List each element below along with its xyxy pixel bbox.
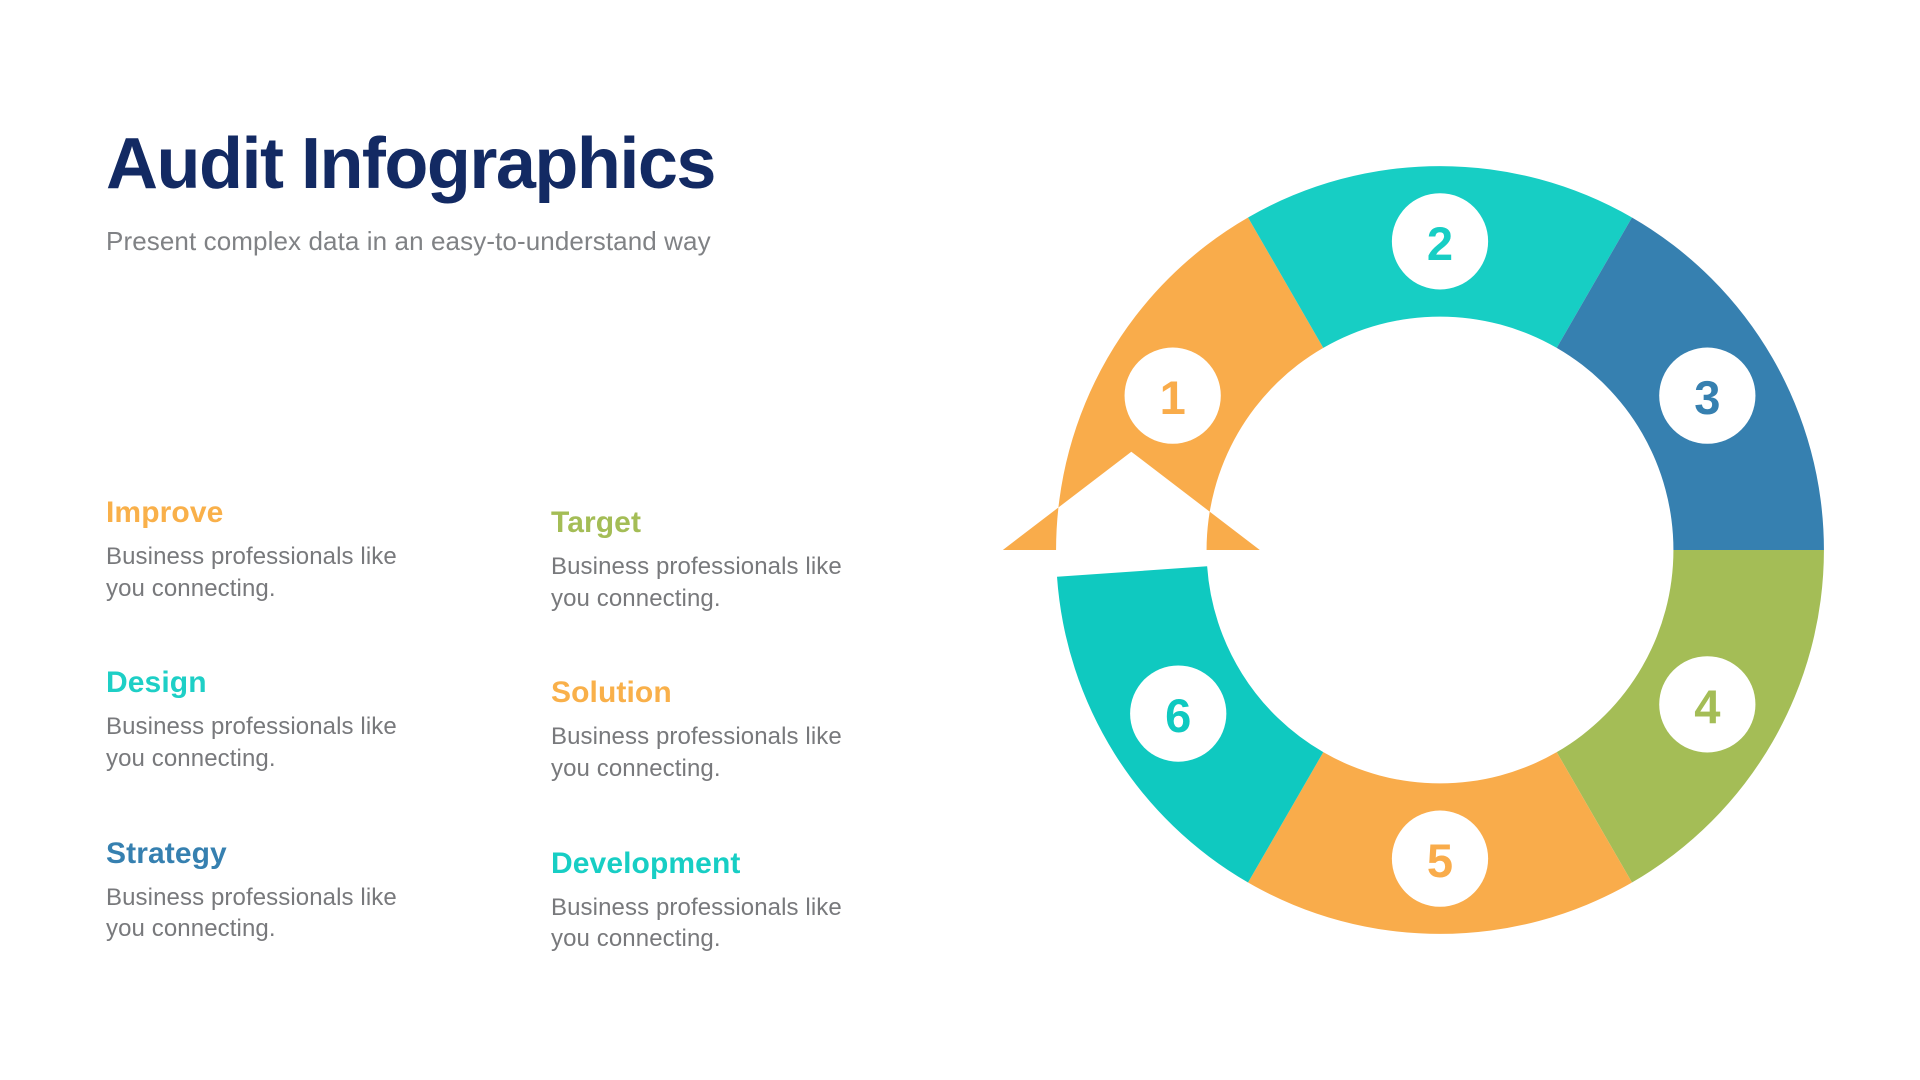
feature-item-development: DevelopmentBusiness professionals like y… <box>551 847 881 955</box>
header-block: Audit Infographics Present complex data … <box>106 128 926 257</box>
page-subtitle: Present complex data in an easy-to-under… <box>106 226 926 257</box>
feature-item-solution: SolutionBusiness professionals like you … <box>551 676 881 784</box>
feature-description-target: Business professionals like you connecti… <box>551 551 881 614</box>
feature-title-improve: Improve <box>106 496 436 529</box>
feature-title-design: Design <box>106 666 436 699</box>
feature-item-design: DesignBusiness professionals like you co… <box>106 666 436 774</box>
feature-item-target: TargetBusiness professionals like you co… <box>551 506 881 614</box>
cycle-diagram: 123456 <box>1000 120 1880 980</box>
feature-description-design: Business professionals like you connecti… <box>106 711 436 774</box>
slide-canvas: Audit Infographics Present complex data … <box>0 0 1920 1080</box>
page-title: Audit Infographics <box>106 128 926 200</box>
cycle-number-4: 4 <box>1694 680 1720 733</box>
cycle-diagram-svg: 123456 <box>1000 120 1880 980</box>
cycle-number-3: 3 <box>1694 371 1720 424</box>
cycle-number-6: 6 <box>1165 689 1191 742</box>
feature-title-solution: Solution <box>551 676 881 709</box>
feature-title-strategy: Strategy <box>106 837 436 870</box>
cycle-number-2: 2 <box>1427 217 1453 270</box>
feature-description-solution: Business professionals like you connecti… <box>551 721 881 784</box>
feature-description-strategy: Business professionals like you connecti… <box>106 882 436 945</box>
feature-description-development: Business professionals like you connecti… <box>551 892 881 955</box>
cycle-number-1: 1 <box>1160 371 1186 424</box>
feature-title-target: Target <box>551 506 881 539</box>
feature-item-strategy: StrategyBusiness professionals like you … <box>106 837 436 945</box>
feature-list: ImproveBusiness professionals like you c… <box>106 496 886 1007</box>
feature-title-development: Development <box>551 847 881 880</box>
feature-item-improve: ImproveBusiness professionals like you c… <box>106 496 436 604</box>
cycle-segment-1[interactable]: 1 <box>1003 218 1323 550</box>
cycle-number-5: 5 <box>1427 834 1453 887</box>
feature-description-improve: Business professionals like you connecti… <box>106 541 436 604</box>
